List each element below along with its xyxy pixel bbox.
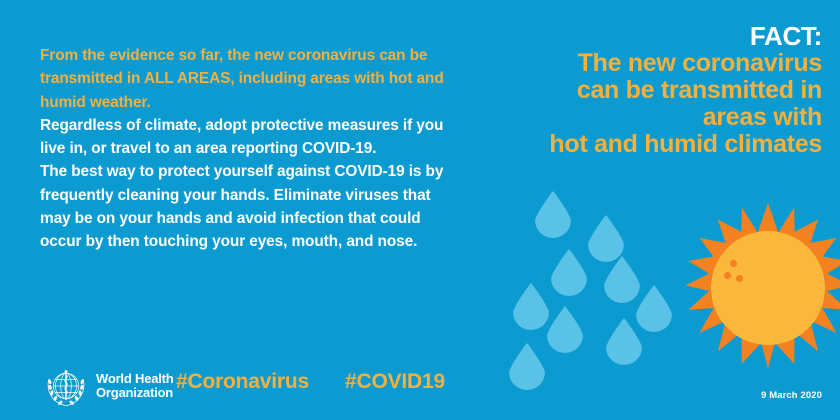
headline-line-3: areas with [402, 104, 822, 131]
who-covid-fact-poster: From the evidence so far, the new corona… [0, 0, 840, 420]
headline-line-1: The new coronavirus [402, 50, 822, 77]
hashtag-coronavirus[interactable]: #Coronavirus [176, 370, 309, 394]
sun-illustration [683, 203, 840, 373]
publication-date: 9 March 2020 [761, 390, 822, 401]
who-wordmark-line1: World Health [96, 372, 174, 387]
body-paragraph-3: The best way to protect yourself against… [40, 160, 450, 253]
hashtag-covid19[interactable]: #COVID19 [345, 370, 445, 394]
who-wordmark: World Health Organization [96, 372, 174, 401]
headline-block: FACT: The new coronavirus can be transmi… [402, 22, 822, 158]
body-paragraph-2: Regardless of climate, adopt protective … [40, 114, 450, 161]
headline-line-4: hot and humid climates [402, 131, 822, 158]
who-logo: World Health Organization [44, 364, 174, 408]
body-copy-block: From the evidence so far, the new corona… [40, 44, 450, 254]
sun-disc [711, 231, 825, 345]
headline-line-2: can be transmitted in [402, 77, 822, 104]
body-paragraph-1: From the evidence so far, the new corona… [40, 44, 450, 114]
headline-fact-label: FACT: [402, 22, 822, 50]
who-emblem-icon [44, 364, 88, 408]
who-wordmark-line2: Organization [96, 386, 174, 401]
